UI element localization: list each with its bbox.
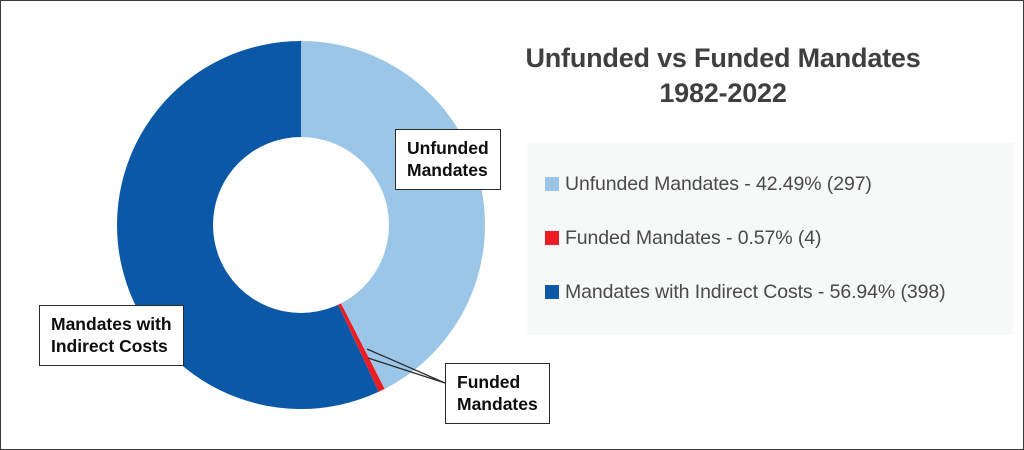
callout-unfunded-line-2: Mandates	[407, 159, 489, 181]
legend-label-unfunded: Unfunded Mandates - 42.49% (297)	[565, 173, 872, 196]
legend-swatch-icon-indirect	[545, 285, 559, 299]
callout-indirect-line-2: Indirect Costs	[51, 335, 172, 357]
callout-funded-mandates: Funded Mandates	[445, 363, 550, 424]
callout-mandates-with-indirect-costs: Mandates with Indirect Costs	[39, 305, 184, 366]
callout-indirect-line-1: Mandates with	[51, 313, 172, 335]
donut-center-hole	[213, 137, 389, 313]
legend-item-funded-mandates[interactable]: Funded Mandates - 0.57% (4)	[527, 211, 1013, 265]
chart-legend: Unfunded Mandates - 42.49% (297) Funded …	[527, 143, 1013, 335]
legend-label-indirect: Mandates with Indirect Costs - 56.94% (3…	[565, 281, 945, 304]
legend-swatch-icon-unfunded	[545, 177, 559, 191]
legend-item-unfunded-mandates[interactable]: Unfunded Mandates - 42.49% (297)	[527, 157, 1013, 211]
chart-title-line-1: Unfunded vs Funded Mandates	[525, 43, 920, 73]
callout-unfunded-line-1: Unfunded	[407, 137, 489, 159]
legend-swatch-icon-funded	[545, 231, 559, 245]
chart-title: Unfunded vs Funded Mandates 1982-2022	[453, 41, 993, 110]
chart-title-line-2: 1982-2022	[453, 76, 993, 111]
legend-item-indirect-costs[interactable]: Mandates with Indirect Costs - 56.94% (3…	[527, 265, 1013, 319]
callout-funded-line-2: Mandates	[457, 393, 538, 415]
callout-funded-line-1: Funded	[457, 371, 538, 393]
legend-label-funded: Funded Mandates - 0.57% (4)	[565, 227, 821, 250]
chart-container: Unfunded vs Funded Mandates 1982-2022 Un…	[0, 0, 1024, 450]
callout-unfunded-mandates: Unfunded Mandates	[395, 129, 501, 190]
